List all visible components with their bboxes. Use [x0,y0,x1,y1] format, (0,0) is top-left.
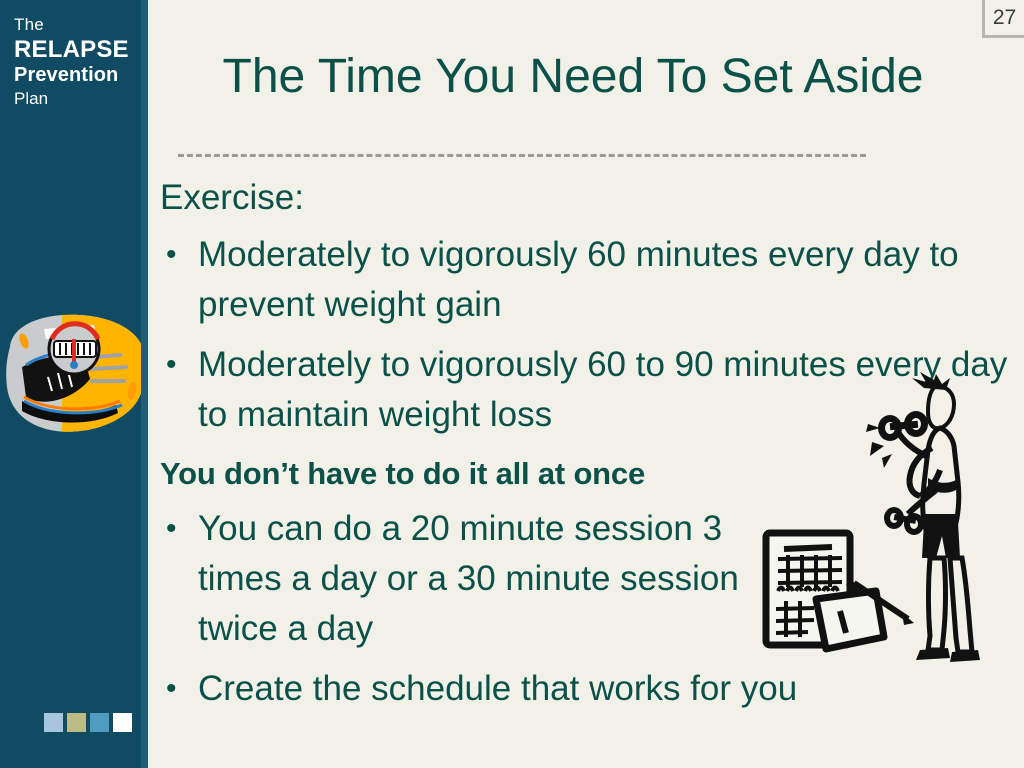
logo-line-the: The [14,14,144,36]
bullet-marker-icon: • [160,504,198,554]
swatch-4 [113,713,132,732]
sidebar: The RELAPSE Prevention Plan [0,0,148,768]
slide-canvas: The RELAPSE Prevention Plan [0,0,1024,768]
bullet-marker-icon: • [160,340,198,390]
brand-logo: The RELAPSE Prevention Plan [14,14,144,110]
list-item-text: You can do a 20 minute session 3 times a… [198,504,773,654]
bullet-marker-icon: • [160,230,198,280]
list-item-text: Create the schedule that works for you [198,664,797,714]
swatch-1 [44,713,63,732]
page-number-badge: 27 [982,0,1024,38]
sidebar-edge-stripe [141,0,148,768]
weight-scale-icon [2,305,154,445]
title-divider [178,154,866,157]
calendar-planner-icon [758,527,930,659]
list-item: • Create the schedule that works for you [160,664,1024,714]
list-item-text: Moderately to vigorously 60 minutes ever… [198,230,1008,330]
logo-line-prevention: Prevention [14,63,144,87]
logo-line-relapse: RELAPSE [14,37,144,63]
logo-line-plan: Plan [14,88,144,110]
swatch-2 [67,713,86,732]
list-item: • Moderately to vigorously 60 minutes ev… [160,230,1024,330]
swatch-3 [90,713,109,732]
swatch-row [44,713,132,732]
lead-heading: Exercise: [160,176,1024,220]
bullet-marker-icon: • [160,664,198,714]
slide-title: The Time You Need To Set Aside [178,46,968,108]
